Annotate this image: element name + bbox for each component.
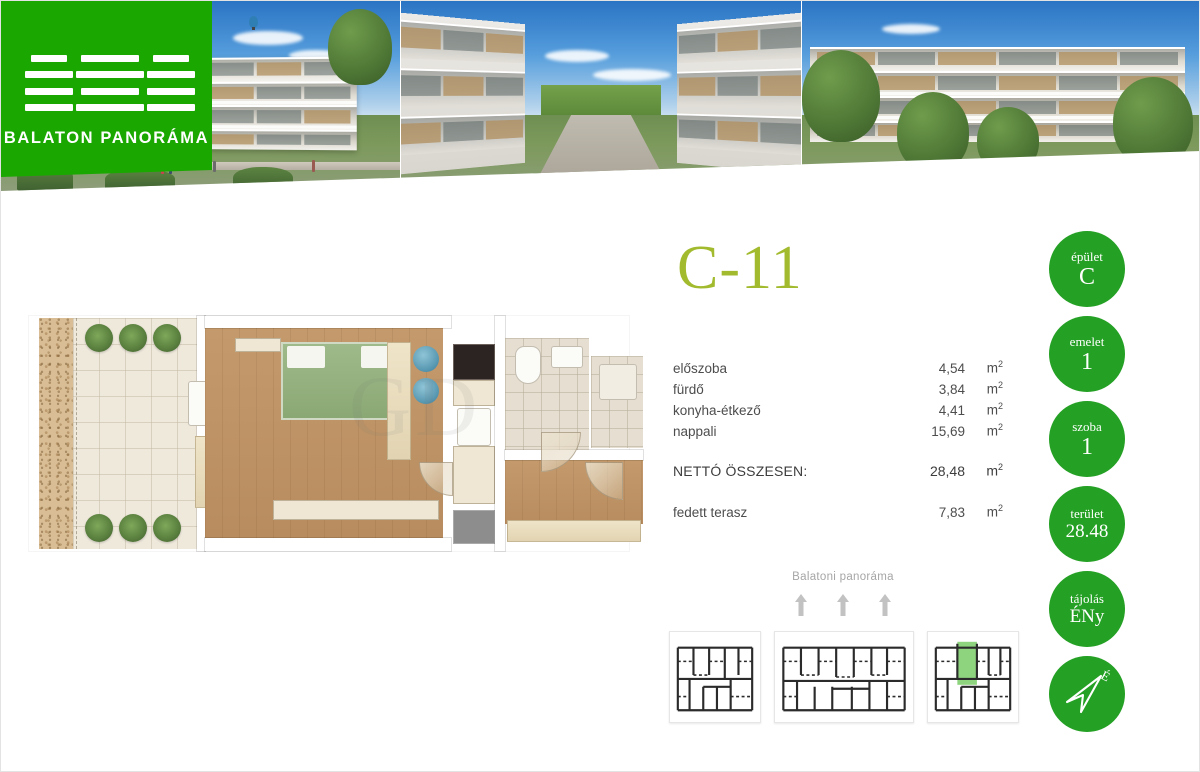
terrace-plant (119, 514, 147, 542)
brand-name: BALATON PANORÁMA (1, 129, 212, 148)
keyplan-building-c[interactable] (927, 631, 1019, 723)
shrub (233, 167, 293, 191)
badge-terulet: terület 28.48 (1049, 486, 1125, 562)
compass-north-label: É (1099, 667, 1113, 684)
keyplan-building-a[interactable] (669, 631, 761, 723)
brand-logo: BALATON PANORÁMA (1, 1, 212, 177)
table-row: nappali 15,69 m2 (673, 422, 1003, 443)
badge-compass: É (1049, 656, 1125, 732)
arrow-up-icon (836, 593, 850, 617)
tree (802, 50, 880, 142)
badge-label: szoba (1072, 420, 1102, 433)
compass-needle-icon: É (1059, 666, 1115, 722)
oven-appliance (453, 344, 495, 380)
total-label: NETTÓ ÖSSZESEN: (673, 463, 903, 479)
panorama-label: Balatoni panoráma (673, 571, 1013, 583)
arrow-up-icon (878, 593, 892, 617)
terrace-plant (85, 324, 113, 352)
badge-value: 1 (1081, 350, 1093, 374)
nightstand (235, 338, 281, 352)
floorplan-datasheet-page: BALATON PANORÁMA (0, 0, 1200, 772)
terrace-plant (85, 514, 113, 542)
total-area: 28,48 (903, 463, 965, 479)
armchair (413, 346, 439, 372)
room-unit: m2 (965, 380, 1003, 397)
cloud (882, 24, 940, 34)
washbasin-fixture (551, 346, 583, 368)
terrace-plant (153, 514, 181, 542)
building-keyplans (669, 631, 1019, 723)
badge-label: terület (1070, 507, 1103, 520)
tree (1113, 77, 1193, 167)
panorama-direction-arrows (673, 593, 1013, 617)
keyplan-c-diagram (928, 632, 1018, 722)
badge-szoba: szoba 1 (1049, 401, 1125, 477)
person (213, 161, 216, 172)
table-row-total: NETTÓ ÖSSZESEN: 28,48 m2 (673, 462, 1003, 483)
terrace-plant (153, 324, 181, 352)
sideboard (273, 500, 439, 520)
kitchen-appliance (453, 510, 495, 544)
room-area: 3,84 (903, 382, 965, 397)
kitchen-sink (457, 408, 491, 446)
kitchen-counter (453, 380, 495, 406)
page-title: C-11 (677, 237, 803, 299)
building-wing-left (401, 12, 525, 175)
table-row: fürdő 3,84 m2 (673, 380, 1003, 401)
room-name: nappali (673, 424, 903, 439)
badge-epulet: épület C (1049, 231, 1125, 307)
badge-value: C (1079, 265, 1095, 289)
unit-attribute-badges: épület C emelet 1 szoba 1 terület 28.48 … (1049, 231, 1129, 741)
room-unit: m2 (965, 359, 1003, 376)
room-name: előszoba (673, 361, 903, 376)
keyplan-b-diagram (775, 632, 913, 722)
room-unit: m2 (965, 422, 1003, 439)
unit-floorplan: GD (29, 316, 629, 551)
table-row-extra: fedett terasz 7,83 m2 (673, 503, 1003, 524)
room-area: 4,54 (903, 361, 965, 376)
extra-area: 7,83 (903, 505, 965, 520)
arrow-up-icon (794, 593, 808, 617)
terrace-plant (119, 324, 147, 352)
floor-runner (387, 342, 411, 460)
extra-unit: m2 (965, 503, 1003, 520)
hot-air-balloon (249, 16, 258, 28)
header-photo-garden-facade (802, 1, 1200, 191)
exterior-wall (197, 316, 205, 551)
shrub (655, 171, 697, 191)
badge-label: tájolás (1070, 592, 1104, 605)
tree (328, 9, 392, 85)
building-wing-right (677, 12, 802, 175)
hedge (802, 173, 1200, 191)
wall-vertical (495, 316, 505, 551)
extra-label: fedett terasz (673, 505, 903, 520)
header-banner: BALATON PANORÁMA (1, 1, 1200, 191)
kitchen-cabinet (453, 446, 495, 504)
room-area: 4,41 (903, 403, 965, 418)
entry-mat (507, 520, 641, 542)
table-row: előszoba 4,54 m2 (673, 359, 1003, 380)
shower-tray (599, 364, 637, 400)
room-name: fürdő (673, 382, 903, 397)
badge-tajolas: tájolás ÉNy (1049, 571, 1125, 647)
wall-bottom (205, 538, 451, 551)
pillow (287, 346, 325, 368)
badge-label: épület (1071, 250, 1103, 263)
badge-emelet: emelet 1 (1049, 316, 1125, 392)
badge-value: 1 (1081, 435, 1093, 459)
room-unit: m2 (965, 401, 1003, 418)
header-photo-courtyard-view (401, 1, 801, 191)
gravel-strip (39, 318, 73, 549)
room-area-table: előszoba 4,54 m2 fürdő 3,84 m2 konyha-ét… (673, 359, 1003, 524)
table-row: konyha-étkező 4,41 m2 (673, 401, 1003, 422)
tree (897, 92, 969, 172)
badge-label: emelet (1070, 335, 1105, 348)
shrub (521, 173, 559, 191)
armchair (413, 378, 439, 404)
balaton-panorama-logo-mark (25, 53, 192, 113)
tree (977, 107, 1039, 173)
keyplan-a-diagram (670, 632, 760, 722)
room-name: konyha-étkező (673, 403, 903, 418)
wall-right (637, 316, 645, 551)
keyplan-building-b[interactable] (774, 631, 914, 723)
total-unit: m2 (965, 462, 1003, 479)
wall-top (205, 316, 451, 328)
badge-value: 28.48 (1066, 522, 1109, 541)
terrace-edge-line (76, 318, 77, 549)
toilet-fixture (515, 346, 541, 384)
badge-value: ÉNy (1070, 607, 1105, 626)
room-area: 15,69 (903, 424, 965, 439)
open-field (541, 85, 661, 115)
